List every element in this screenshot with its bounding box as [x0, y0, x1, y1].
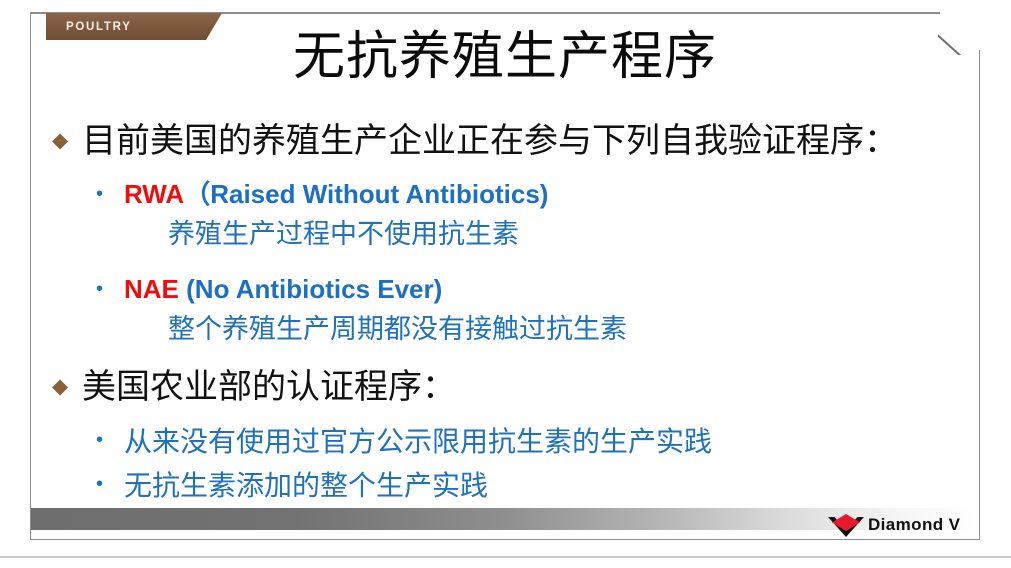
slide-frame-right-edge: [979, 50, 981, 540]
diamond-v-logo: Diamond V: [828, 510, 976, 540]
spacer: [52, 412, 962, 420]
bullet-level3-text-rwa: 养殖生产过程中不使用抗生素: [168, 214, 962, 255]
diamond-bullet-icon: ◆: [52, 364, 82, 410]
spacer: [52, 350, 962, 364]
logo-red-diamond-icon: [832, 514, 860, 531]
slide-body: ◆ 目前美国的养殖生产企业正在参与下列自我验证程序： • RWA（Raised …: [52, 118, 962, 508]
acronym-rwa: RWA: [124, 179, 184, 209]
logo-wordmark: Diamond V: [868, 515, 960, 535]
dot-bullet-icon: •: [96, 269, 124, 309]
bullet-level2-item-nae: • NAE (No Antibiotics Ever): [96, 269, 962, 309]
expansion-rwa: （Raised Without Antibiotics): [184, 179, 548, 209]
bullet-level2-item-usda-2: • 无抗生素添加的整个生产实践: [96, 464, 962, 508]
dot-bullet-icon: •: [96, 464, 124, 504]
bullet-level2-item-usda-1: • 从来没有使用过官方公示限用抗生素的生产实践: [96, 420, 962, 464]
bullet-level3-text-nae: 整个养殖生产周期都没有接触过抗生素: [168, 309, 962, 350]
bullet-level2-text-usda-2: 无抗生素添加的整个生产实践: [124, 464, 488, 508]
bullet-level1-text: 目前美国的养殖生产企业正在参与下列自我验证程序：: [82, 118, 898, 164]
dot-bullet-icon: •: [96, 420, 124, 460]
slide-canvas: POULTRY 无抗养殖生产程序 ◆ 目前美国的养殖生产企业正在参与下列自我验证…: [0, 0, 1011, 568]
bullet-level1-item-usda: ◆ 美国农业部的认证程序：: [52, 364, 962, 410]
bullet-level2-text-usda-1: 从来没有使用过官方公示限用抗生素的生产实践: [124, 420, 712, 464]
spacer: [52, 255, 962, 269]
slide-title: 无抗养殖生产程序: [30, 26, 980, 88]
bottom-separator-rule: [0, 556, 1011, 558]
dot-bullet-icon: •: [96, 174, 124, 214]
bullet-level2-text-rwa: RWA（Raised Without Antibiotics): [124, 174, 548, 214]
diamond-bullet-icon: ◆: [52, 118, 82, 164]
expansion-nae: (No Antibiotics Ever): [179, 274, 442, 304]
spacer: [52, 166, 962, 174]
diamond-v-mark-icon: [828, 512, 864, 538]
bullet-level1-item: ◆ 目前美国的养殖生产企业正在参与下列自我验证程序：: [52, 118, 962, 164]
bullet-level1-text-usda: 美国农业部的认证程序：: [82, 364, 456, 410]
bullet-level2-item-rwa: • RWA（Raised Without Antibiotics): [96, 174, 962, 214]
acronym-nae: NAE: [124, 274, 179, 304]
bullet-level2-text-nae: NAE (No Antibiotics Ever): [124, 269, 442, 309]
